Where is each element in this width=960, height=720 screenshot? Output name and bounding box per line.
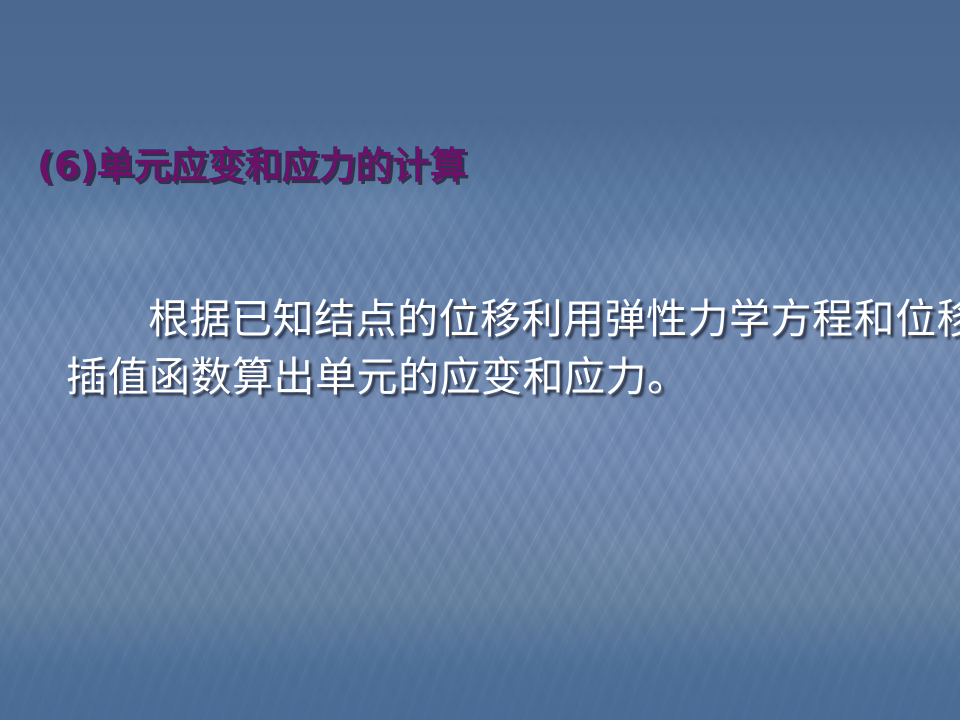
slide-body: 根据已知结点的位移利用弹性力学方程和位移 插值函数算出单元的应变和应力。 [66,290,926,406]
slide-title: (6)单元应变和应力的计算 [37,147,467,186]
presentation-slide: (6)单元应变和应力的计算 根据已知结点的位移利用弹性力学方程和位移 插值函数算… [0,0,960,720]
slide-content: (6)单元应变和应力的计算 根据已知结点的位移利用弹性力学方程和位移 插值函数算… [0,0,960,720]
body-line-2: 插值函数算出单元的应变和应力。 [66,348,926,406]
body-line-1: 根据已知结点的位移利用弹性力学方程和位移 [66,290,926,348]
